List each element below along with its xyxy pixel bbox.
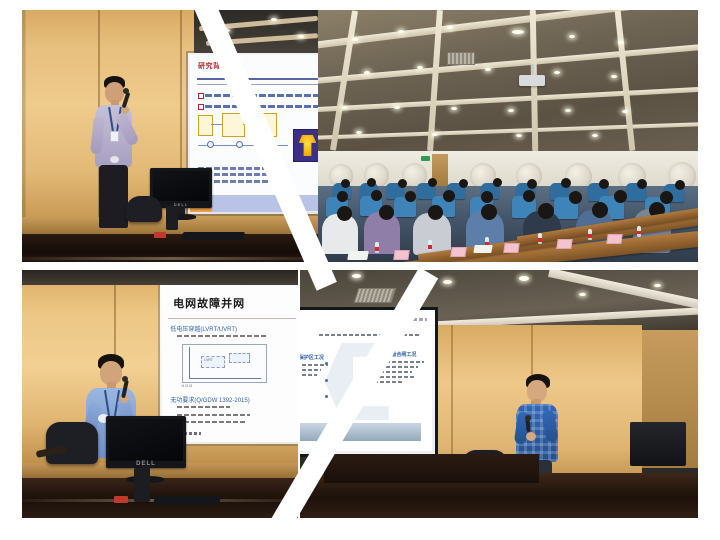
photo-collage: 研究背景 风电并网系统高比例电力电子装置 电网与环电力电子装置的交互影响 xyxy=(0,0,720,540)
collage-mat-left xyxy=(0,0,22,540)
water-bottle xyxy=(538,233,542,244)
name-card xyxy=(606,234,622,244)
handout-paper xyxy=(473,245,492,253)
coffered-ceiling xyxy=(318,10,698,151)
audience-seating xyxy=(318,186,698,262)
office-chair xyxy=(126,196,162,222)
red-device xyxy=(154,232,166,238)
name-card xyxy=(503,243,519,253)
keyboard xyxy=(153,496,222,505)
front-desk xyxy=(22,234,318,262)
slide-bullet: 风电并网系统高比例电力电子装置 xyxy=(198,93,318,97)
name-card xyxy=(557,239,573,249)
desktop-tower xyxy=(166,206,178,230)
dell-monitor: DELL xyxy=(106,416,186,468)
slide-title: 电网故障并网 xyxy=(173,295,245,311)
ceiling-air-vent xyxy=(353,288,396,303)
collage-mat-middle xyxy=(0,262,720,270)
name-card xyxy=(393,250,409,260)
ceiling-air-vent xyxy=(447,52,475,65)
water-bottle xyxy=(588,229,592,240)
water-bottle xyxy=(428,240,432,251)
slide-column-left: 大保护区工况 xyxy=(300,354,328,376)
dark-ceiling xyxy=(22,270,298,285)
handout-paper xyxy=(348,251,370,260)
podium xyxy=(324,454,539,484)
slide-section-2: 无功要求(Q/GDW 1392-2015) xyxy=(170,395,249,404)
keyboard xyxy=(181,232,246,240)
name-card xyxy=(450,247,466,257)
slide-chart: LVRT xyxy=(182,344,268,383)
av-rack xyxy=(630,422,686,466)
collage-mat-right xyxy=(698,0,720,540)
slide-inset-figure xyxy=(293,129,318,162)
collage-mat-bottom xyxy=(0,518,720,540)
office-chair xyxy=(46,422,98,464)
water-bottle xyxy=(375,242,379,253)
red-device xyxy=(114,496,128,503)
slide-section-1: 低电压穿越(LVRT/UVRT) xyxy=(170,324,237,333)
water-bottle xyxy=(637,226,641,237)
desktop-tower xyxy=(134,468,150,502)
exit-sign xyxy=(421,156,430,161)
photo-top-right: Wide view of a full auditorium audience … xyxy=(318,10,698,262)
photo-bottom-left: 电网故障并网 低电压穿越(LVRT/UVRT) 当电网电压跌落时风电机组需保持并… xyxy=(22,270,298,518)
ceiling-projector xyxy=(519,75,545,86)
collage-mat-top xyxy=(0,0,720,10)
